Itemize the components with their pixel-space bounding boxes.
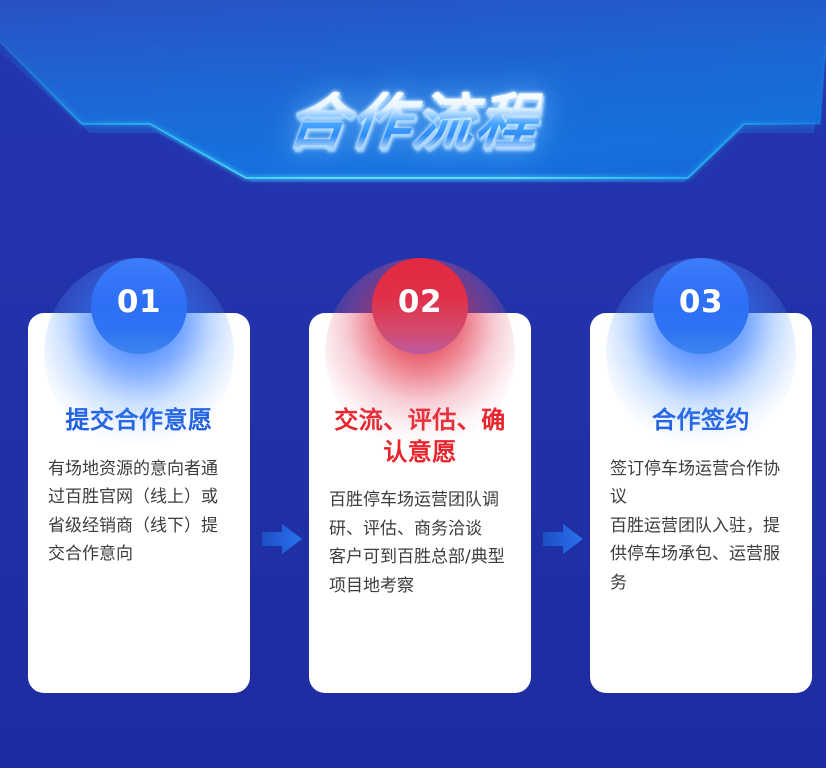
step-body-3-line-1: 签订停车场运营合作协议 bbox=[610, 455, 792, 512]
page-title: 合作流程 bbox=[283, 92, 543, 153]
process-step-2: 交流、评估、确认意愿 百胜停车场运营团队调研、评估、商务洽谈 客户可到百胜总部/… bbox=[309, 255, 531, 693]
process-step-1: 提交合作意愿 有场地资源的意向者通过百胜官网（线上）或省级经销商（线下）提交合作… bbox=[28, 255, 250, 693]
step-title-3: 合作签约 bbox=[610, 405, 792, 437]
step-card-3[interactable]: 合作签约 签订停车场运营合作协议 百胜运营团队入驻，提供停车场承包、运营服务 bbox=[590, 313, 812, 693]
process-steps: 提交合作意愿 有场地资源的意向者通过百胜官网（线上）或省级经销商（线下）提交合作… bbox=[0, 255, 826, 695]
step-body-1: 有场地资源的意向者通过百胜官网（线上）或省级经销商（线下）提交合作意向 bbox=[48, 455, 230, 569]
arrow-right-icon-2 bbox=[543, 522, 583, 556]
step-card-1[interactable]: 提交合作意愿 有场地资源的意向者通过百胜官网（线上）或省级经销商（线下）提交合作… bbox=[28, 313, 250, 693]
step-badge-2: 02 bbox=[372, 258, 468, 354]
step-body-3: 签订停车场运营合作协议 百胜运营团队入驻，提供停车场承包、运营服务 bbox=[610, 455, 792, 598]
step-title-1: 提交合作意愿 bbox=[48, 405, 230, 437]
step-body-2-line-1: 百胜停车场运营团队调研、评估、商务洽谈 bbox=[329, 486, 511, 543]
arrow-right-icon-1 bbox=[262, 522, 302, 556]
step-body-1-line-1: 有场地资源的意向者通过百胜官网（线上）或省级经销商（线下）提交合作意向 bbox=[48, 455, 230, 569]
step-badge-3: 03 bbox=[653, 258, 749, 354]
step-badge-1: 01 bbox=[91, 258, 187, 354]
page-title-wrap: 合作流程 bbox=[0, 82, 826, 162]
process-step-3: 合作签约 签订停车场运营合作协议 百胜运营团队入驻，提供停车场承包、运营服务 0… bbox=[590, 255, 812, 693]
step-title-2: 交流、评估、确认意愿 bbox=[329, 405, 511, 468]
step-body-3-line-2: 百胜运营团队入驻，提供停车场承包、运营服务 bbox=[610, 512, 792, 598]
step-card-2[interactable]: 交流、评估、确认意愿 百胜停车场运营团队调研、评估、商务洽谈 客户可到百胜总部/… bbox=[309, 313, 531, 693]
step-body-2-line-2: 客户可到百胜总部/典型项目地考察 bbox=[329, 543, 511, 600]
step-body-2: 百胜停车场运营团队调研、评估、商务洽谈 客户可到百胜总部/典型项目地考察 bbox=[329, 486, 511, 600]
